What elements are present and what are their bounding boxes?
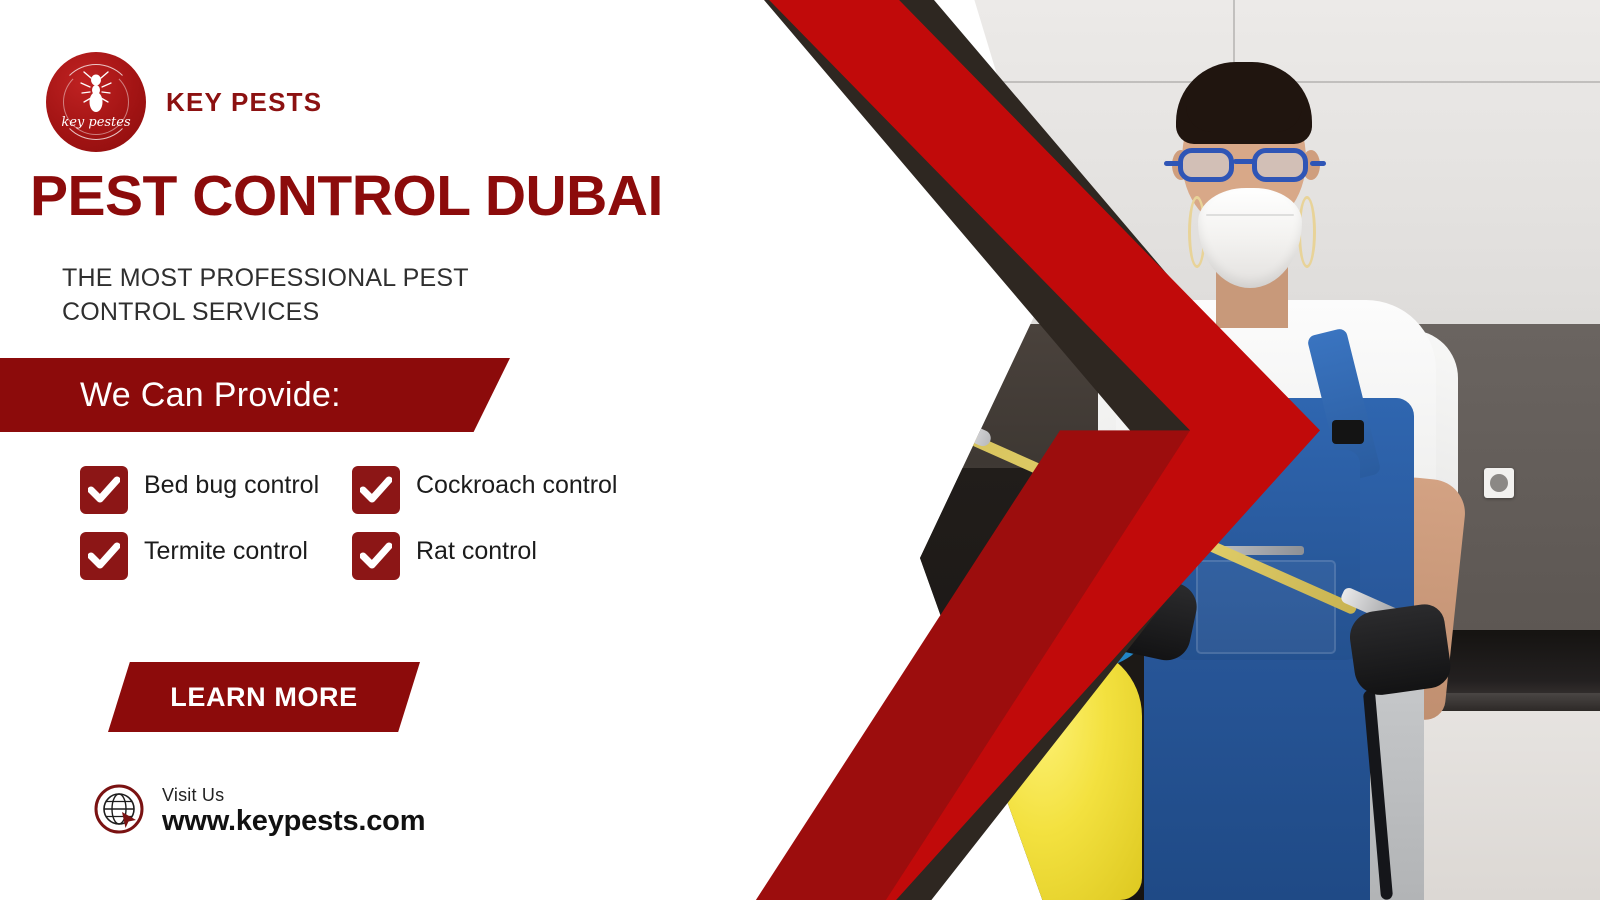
content-panel: key pestes KEY PESTS PEST CONTROL DUBAI … [0,0,700,900]
checkmark-icon [360,542,392,570]
visit-us-label: Visit Us [162,785,425,805]
service-item-bed-bug[interactable]: Bed bug control [80,466,352,514]
termite-icon: key pestes [46,52,146,152]
glasses-bridge [1233,159,1255,164]
checkmark-icon [360,476,392,504]
page-title: PEST CONTROL DUBAI [30,168,663,225]
check-icon[interactable] [352,466,400,514]
brand-name: KEY PESTS [166,87,322,118]
glasses-temple-right [1310,161,1326,166]
services-list: Bed bug control Cockroach control Termit… [80,466,690,580]
service-item-cockroach[interactable]: Cockroach control [352,466,652,514]
lens-right [1252,148,1308,182]
pest-control-ad-banner: key pestes KEY PESTS PEST CONTROL DUBAI … [0,0,1600,900]
hero-graphic [620,0,1600,900]
strap-buckle-right [1332,420,1364,444]
mask-fold [1206,214,1294,216]
learn-more-label: LEARN MORE [170,682,358,713]
footer-contact[interactable]: Visit Us www.keypests.com [92,782,425,841]
learn-more-button[interactable]: LEARN MORE [108,662,420,732]
safety-glasses [1176,148,1314,184]
glasses-temple-left [1164,161,1180,166]
globe-cursor-icon [92,782,146,841]
brand-lockup: key pestes KEY PESTS [46,52,322,152]
checkmark-icon [88,542,120,570]
website-url[interactable]: www.keypests.com [162,805,425,837]
worker-photo [920,0,1600,900]
service-label: Bed bug control [144,466,319,500]
subtitle: THE MOST PROFESSIONAL PEST CONTROL SERVI… [62,262,532,330]
footer-text-block: Visit Us www.keypests.com [162,785,425,838]
service-item-termite[interactable]: Termite control [80,532,352,580]
lens-left [1178,148,1234,182]
checkmark-icon [88,476,120,504]
key-pests-logo: key pestes [46,52,146,152]
we-can-provide-label: We Can Provide: [80,376,341,415]
spray-nozzle [945,415,994,448]
hair [1176,62,1312,144]
service-label: Termite control [144,532,308,566]
strap-buckle-left [1166,420,1198,444]
check-icon[interactable] [80,532,128,580]
check-icon[interactable] [352,532,400,580]
service-label: Cockroach control [416,466,617,500]
glove-right [1347,602,1454,699]
logo-script-text: key pestes [61,115,131,130]
worker-figure [920,0,1600,900]
check-icon[interactable] [80,466,128,514]
sprayer-tank [996,646,1142,900]
we-can-provide-banner: We Can Provide: [0,358,510,432]
service-item-rat[interactable]: Rat control [352,532,652,580]
service-label: Rat control [416,532,537,566]
